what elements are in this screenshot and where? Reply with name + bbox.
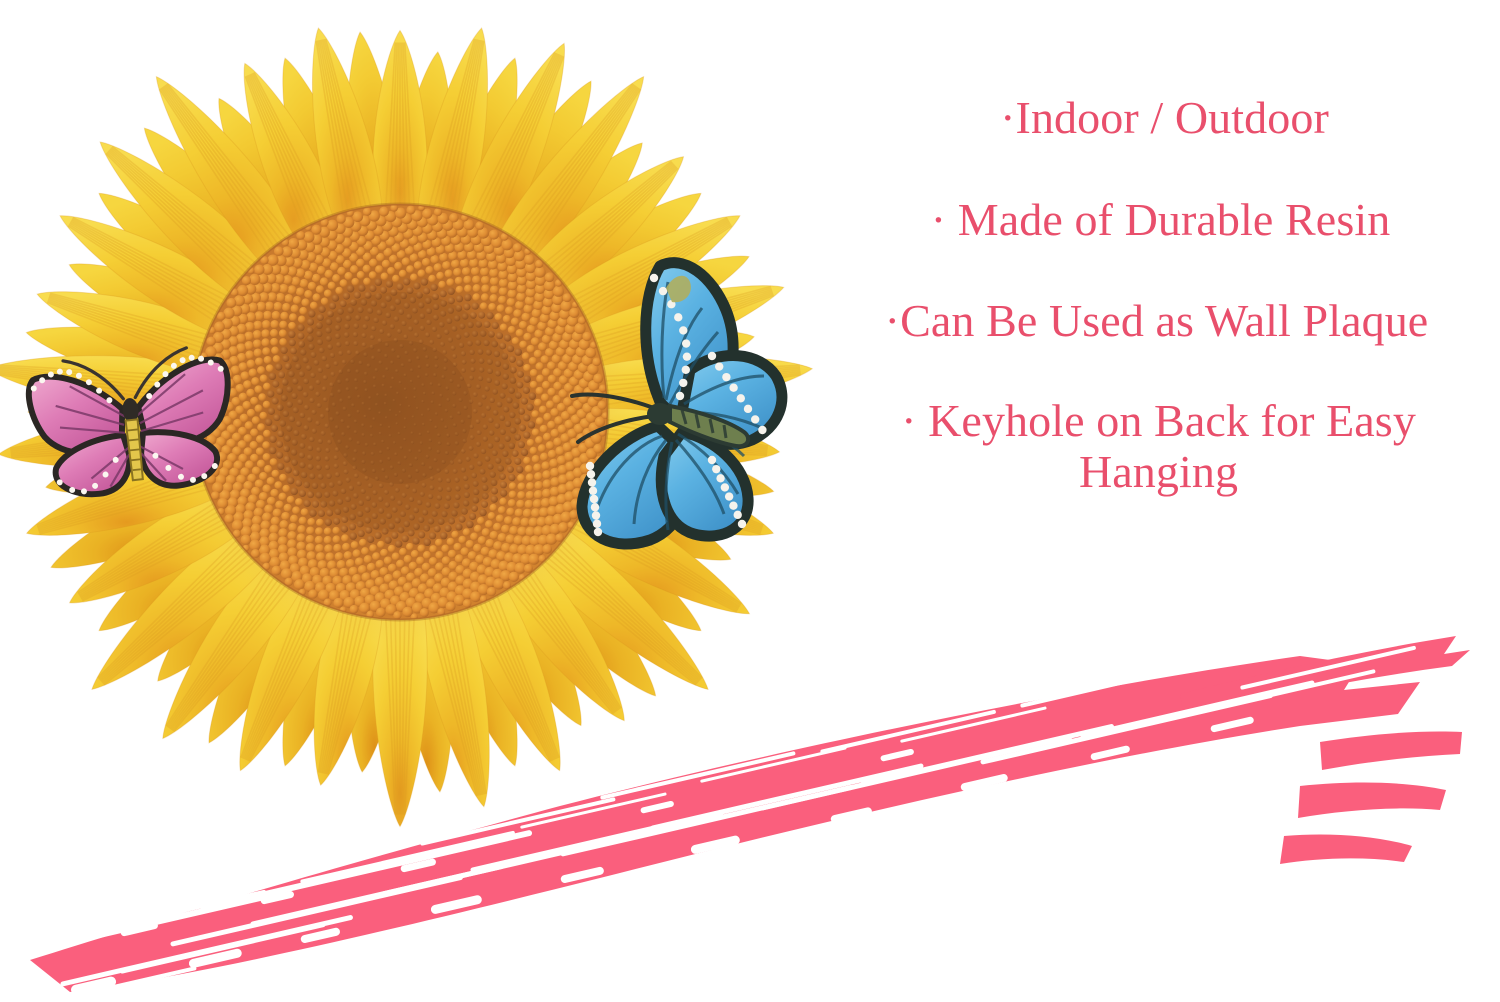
brush-stroke-shape — [30, 636, 1470, 1002]
feature-item-keyhole-hanging: · Keyhole on Back for Easy Hanging — [847, 395, 1470, 498]
feature-item-indoor-outdoor: ·Indoor / Outdoor — [859, 92, 1470, 144]
bullet-dot-icon: · — [885, 295, 900, 346]
bullet-dot-icon: · — [931, 194, 958, 245]
feature-label: Keyhole on Back for Easy Hanging — [928, 395, 1416, 498]
marketing-image-canvas: ·Indoor / Outdoor · Made of Durable Resi… — [0, 0, 1500, 1002]
feature-item-wall-plaque: ·Can Be Used as Wall Plaque — [843, 295, 1470, 347]
feature-item-durable-resin: · Made of Durable Resin — [851, 194, 1470, 246]
pink-brush-stroke-banner — [0, 630, 1500, 1002]
bullet-dot-icon: · — [901, 395, 928, 446]
sunflower-seed-disc — [192, 204, 609, 620]
bullet-dot-icon: · — [1000, 92, 1015, 143]
feature-bullet-list: ·Indoor / Outdoor · Made of Durable Resi… — [845, 92, 1470, 498]
feature-label: Made of Durable Resin — [958, 194, 1391, 245]
feature-label: Indoor / Outdoor — [1016, 92, 1329, 143]
feature-label: Can Be Used as Wall Plaque — [900, 295, 1428, 346]
